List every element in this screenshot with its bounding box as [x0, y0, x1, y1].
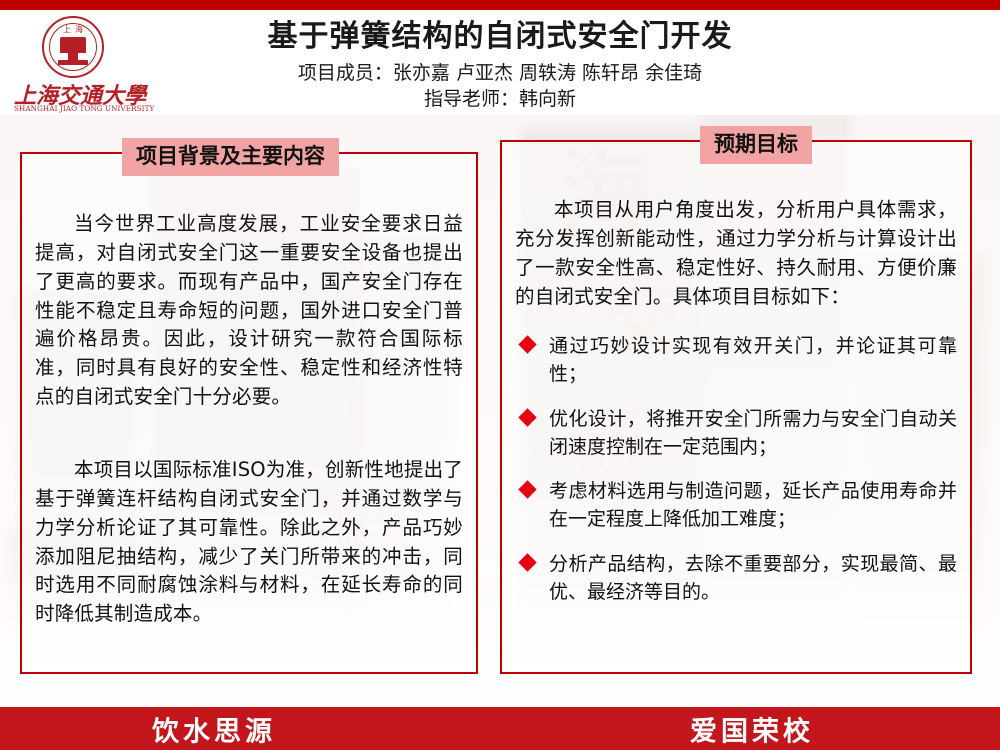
background-paragraph-1: 当今世界工业高度发展，工业安全要求日益提高，对自闭式安全门这一重要安全设备也提出… — [35, 210, 463, 412]
seal-base — [58, 60, 88, 65]
goal-item: 优化设计，将推开安全门所需力与安全门自动关闭速度控制在一定范围内； — [515, 406, 957, 461]
goal-item: 通过巧妙设计实现有效开关门，并论证其可靠性； — [515, 333, 957, 388]
poster-slide: 海 交 通 源 上海 上海交通大學 SHANGHAI JIAO TONG UNI… — [0, 0, 1000, 750]
footer-motto-right: 爱国荣校 — [690, 709, 814, 748]
seal-anvil-icon — [60, 37, 86, 53]
goal-item-text: 通过巧妙设计实现有效开关门，并论证其可靠性； — [549, 335, 957, 385]
panel-project-background: 当今世界工业高度发展，工业安全要求日益提高，对自闭式安全门这一重要安全设备也提出… — [20, 152, 478, 674]
goals-bullet-list: 通过巧妙设计实现有效开关门，并论证其可靠性； 优化设计，将推开安全门所需力与安全… — [515, 333, 957, 606]
logo-english-name: SHANGHAI JIAO TONG UNIVERSITY — [14, 104, 142, 113]
sjtu-seal-icon: 上海 — [42, 16, 104, 78]
project-advisor: 指导老师：韩向新 — [150, 86, 850, 113]
panel-expected-goals: 本项目从用户角度出发，分析用户具体需求，充分发挥创新能动性，通过力学分析与计算设… — [500, 140, 972, 674]
goal-item: 考虑材料选用与制造问题，延长产品使用寿命并在一定程度上降低加工难度； — [515, 478, 957, 533]
footer-bar: 饮水思源 爱国荣校 — [0, 707, 1000, 750]
project-members: 项目成员：张亦嘉 卢亚杰 周轶涛 陈轩昂 余佳琦 — [150, 60, 850, 87]
diamond-bullet-icon — [518, 553, 536, 571]
seal-top-characters: 上海 — [44, 24, 106, 35]
panel-left-title-badge: 项目背景及主要内容 — [122, 138, 339, 176]
panel-right-body: 本项目从用户角度出发，分析用户具体需求，充分发挥创新能动性，通过力学分析与计算设… — [502, 196, 970, 623]
goal-item-text: 分析产品结构，去除不重要部分，实现最简、最优、最经济等目的。 — [549, 553, 957, 603]
panel-right-title-badge: 预期目标 — [700, 126, 812, 164]
goal-item-text: 优化设计，将推开安全门所需力与安全门自动关闭速度控制在一定范围内； — [549, 408, 957, 458]
sjtu-logo: 上海 上海交通大學 SHANGHAI JIAO TONG UNIVERSITY — [14, 16, 142, 116]
top-accent-bar — [0, 0, 1000, 10]
background-paragraph-2: 本项目以国际标准ISO为准，创新性地提出了基于弹簧连杆结构自闭式安全门，并通过数… — [35, 456, 463, 629]
goals-intro-paragraph: 本项目从用户角度出发，分析用户具体需求，充分发挥创新能动性，通过力学分析与计算设… — [515, 196, 957, 311]
diamond-bullet-icon — [518, 408, 536, 426]
diamond-bullet-icon — [518, 336, 536, 354]
goal-item: 分析产品结构，去除不重要部分，实现最简、最优、最经济等目的。 — [515, 551, 957, 606]
footer-motto-left: 饮水思源 — [152, 709, 276, 748]
goal-item-text: 考虑材料选用与制造问题，延长产品使用寿命并在一定程度上降低加工难度； — [549, 480, 957, 530]
panel-left-body: 当今世界工业高度发展，工业安全要求日益提高，对自闭式安全门这一重要安全设备也提出… — [22, 210, 476, 629]
title-block: 基于弹簧结构的自闭式安全门开发 项目成员：张亦嘉 卢亚杰 周轶涛 陈轩昂 余佳琦… — [150, 18, 850, 113]
diamond-bullet-icon — [518, 481, 536, 499]
poster-title: 基于弹簧结构的自闭式安全门开发 — [150, 18, 850, 56]
header-band: 上海 上海交通大學 SHANGHAI JIAO TONG UNIVERSITY … — [0, 10, 1000, 115]
